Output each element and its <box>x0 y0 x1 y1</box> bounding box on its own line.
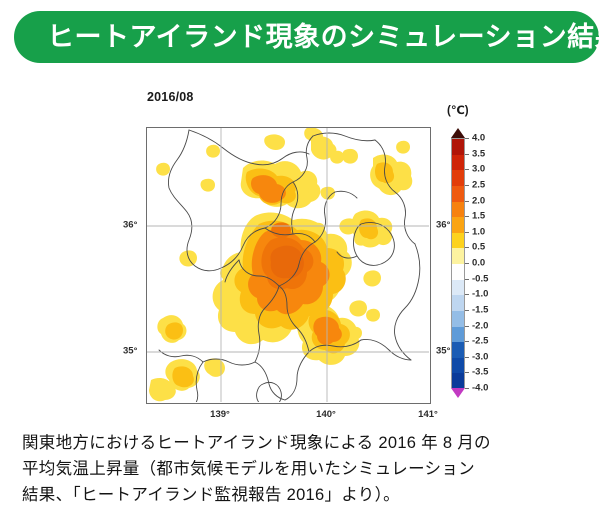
header-banner: ヒートアイランド現象のシミュレーション結果 <box>14 11 599 63</box>
colorbar-band-2 <box>452 202 464 218</box>
colorbar-band--0.5 <box>452 280 464 296</box>
colorbar-band--1.5 <box>452 311 464 327</box>
colorbar-tick--0.5 <box>465 279 469 280</box>
lon-tick-139: 139° <box>210 409 230 420</box>
caption-line-1: 関東地方におけるヒートアイランド現象による 2016 年 8 月の <box>22 430 597 456</box>
lat-tick-35-right: 35° <box>436 346 450 357</box>
colorbar-tick-label-1.5: 1.5 <box>472 211 485 222</box>
colorbar-band-0 <box>452 264 464 280</box>
colorbar-tick-label-0: 0.0 <box>472 258 485 269</box>
colorbar-band--2 <box>452 327 464 343</box>
lat-tick-36-left: 36° <box>123 220 137 231</box>
contour-band-2.5 <box>270 246 303 279</box>
page-title: ヒートアイランド現象のシミュレーション結果 <box>14 24 613 51</box>
figure-container: 2016/08 <box>0 70 613 420</box>
colorbar-tick-0 <box>465 263 469 264</box>
caption-line-3: 結果、「ヒートアイランド監視報告 2016」より）。 <box>22 482 597 508</box>
colorbar-band-4 <box>452 139 464 155</box>
caption-line-2: 平均気温上昇量（都市気候モデルを用いたシミュレーション <box>22 456 597 482</box>
colorbar-band-1.5 <box>452 217 464 233</box>
colorbar-tick-label--2: -2.0 <box>472 320 488 331</box>
colorbar-tick--2.5 <box>465 341 469 342</box>
colorbar-tick-label--3: -3.0 <box>472 351 488 362</box>
colorbar-tick-label--4: -4.0 <box>472 383 488 394</box>
colorbar-tick--3.5 <box>465 372 469 373</box>
colorbar-tick-label-3: 3.0 <box>472 164 485 175</box>
colorbar-band-1 <box>452 233 464 249</box>
colorbar-tick-label--2.5: -2.5 <box>472 336 488 347</box>
colorbar-tick-2.5 <box>465 185 469 186</box>
colorbar-band--1 <box>452 295 464 311</box>
colorbar-tick-label-1: 1.0 <box>472 226 485 237</box>
colorbar-band-3 <box>452 170 464 186</box>
colorbar-under-arrow <box>451 388 465 398</box>
lon-tick-141: 141° <box>418 409 438 420</box>
lat-tick-36-right: 36° <box>436 220 450 231</box>
colorbar-tick--3 <box>465 357 469 358</box>
colorbar-tick-4 <box>465 138 469 139</box>
colorbar-band-0.5 <box>452 248 464 264</box>
colorbar-band--3.5 <box>452 373 464 389</box>
colorbar-tick--4 <box>465 388 469 389</box>
colorbar-tick-label-0.5: 0.5 <box>472 242 485 253</box>
colorbar-tick--1.5 <box>465 310 469 311</box>
colorbar-tick--1 <box>465 294 469 295</box>
colorbar-tick-label-3.5: 3.5 <box>472 148 485 159</box>
colorbar-over-arrow <box>451 128 465 138</box>
colorbar-tick-3 <box>465 169 469 170</box>
colorbar-tick-1.5 <box>465 216 469 217</box>
colorbar-band-3.5 <box>452 155 464 171</box>
colorbar: 4.03.53.02.52.01.51.00.50.0-0.5-1.0-1.5-… <box>451 128 465 398</box>
colorbar-tick-1 <box>465 232 469 233</box>
colorbar-gradient <box>451 138 465 388</box>
colorbar-tick--2 <box>465 326 469 327</box>
colorbar-tick-3.5 <box>465 154 469 155</box>
lon-tick-140: 140° <box>316 409 336 420</box>
lat-tick-35-left: 35° <box>123 346 137 357</box>
colorbar-tick-label--1.5: -1.5 <box>472 304 488 315</box>
colorbar-tick-label--3.5: -3.5 <box>472 367 488 378</box>
colorbar-tick-label-2: 2.0 <box>472 195 485 206</box>
colorbar-band-2.5 <box>452 186 464 202</box>
map-plot-area <box>146 127 431 404</box>
colorbar-band--3 <box>452 358 464 374</box>
colorbar-tick-label--0.5: -0.5 <box>472 273 488 284</box>
colorbar-band--2.5 <box>452 342 464 358</box>
colorbar-tick-2 <box>465 201 469 202</box>
colorbar-tick-label-4: 4.0 <box>472 133 485 144</box>
colorbar-tick-label-2.5: 2.5 <box>472 179 485 190</box>
figure-caption: 関東地方におけるヒートアイランド現象による 2016 年 8 月の 平均気温上昇… <box>22 430 597 508</box>
colorbar-tick-label--1: -1.0 <box>472 289 488 300</box>
map-title: 2016/08 <box>147 90 194 104</box>
colorbar-tick-0.5 <box>465 247 469 248</box>
heat-island-map <box>147 128 429 402</box>
colorbar-unit-label: (℃) <box>447 103 469 117</box>
